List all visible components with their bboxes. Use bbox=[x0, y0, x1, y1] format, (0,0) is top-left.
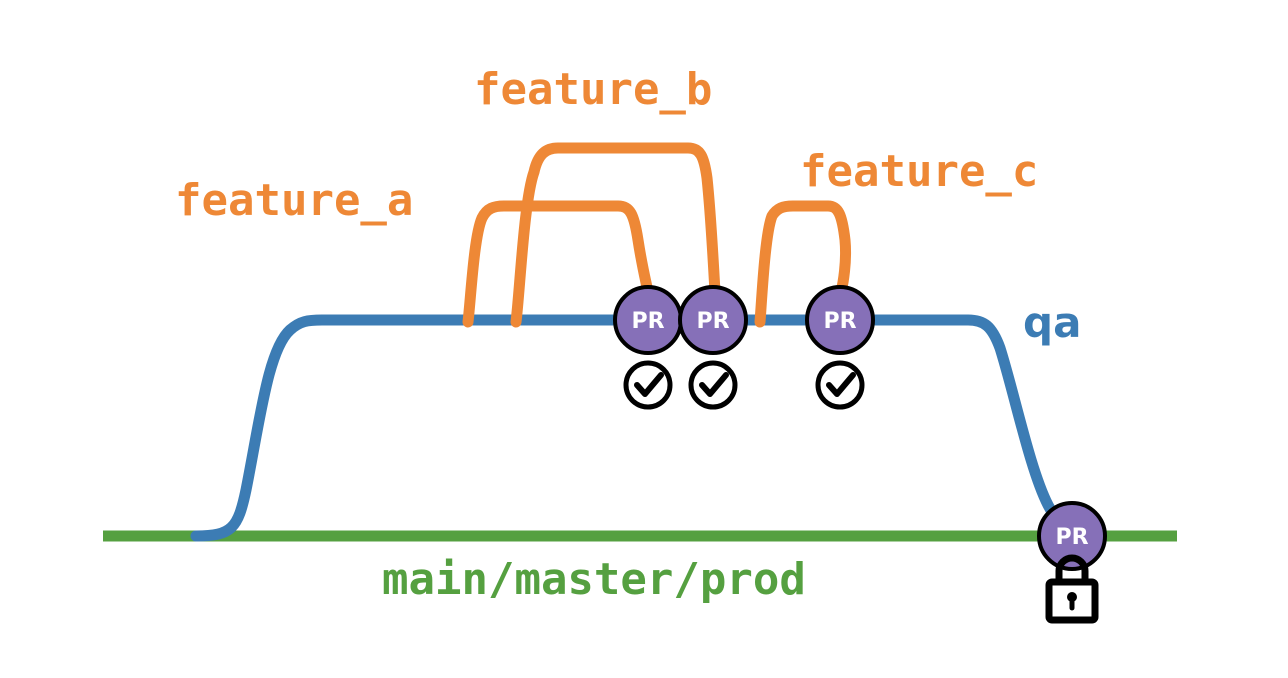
pr-node-label: PR bbox=[631, 309, 664, 334]
pr-node-label: PR bbox=[1055, 525, 1088, 550]
branch-label-qa: qa bbox=[1023, 298, 1081, 347]
branch-label-feature-c: feature_c bbox=[800, 146, 1038, 197]
branch-line-qa bbox=[196, 320, 1070, 536]
branch-label-main: main/master/prod bbox=[382, 554, 806, 605]
pr-node-3[interactable]: PR bbox=[807, 287, 873, 353]
git-branch-diagram: PR PR PR PR bbox=[0, 0, 1288, 678]
check-circle-icon[interactable] bbox=[626, 363, 670, 407]
branch-label-feature-b: feature_b bbox=[474, 64, 712, 115]
diagram-canvas: PR PR PR PR bbox=[0, 0, 1288, 678]
pr-node-1[interactable]: PR bbox=[615, 287, 681, 353]
check-circle-icon[interactable] bbox=[818, 363, 862, 407]
check-circle-ring bbox=[626, 363, 670, 407]
check-circle-icon[interactable] bbox=[691, 363, 735, 407]
branch-label-feature-a: feature_a bbox=[175, 175, 413, 226]
pr-node-2[interactable]: PR bbox=[680, 287, 746, 353]
check-circle-ring bbox=[691, 363, 735, 407]
check-circle-ring bbox=[818, 363, 862, 407]
branch-line-feature-b bbox=[516, 148, 715, 322]
pr-node-label: PR bbox=[823, 309, 856, 334]
pr-node-label: PR bbox=[696, 309, 729, 334]
